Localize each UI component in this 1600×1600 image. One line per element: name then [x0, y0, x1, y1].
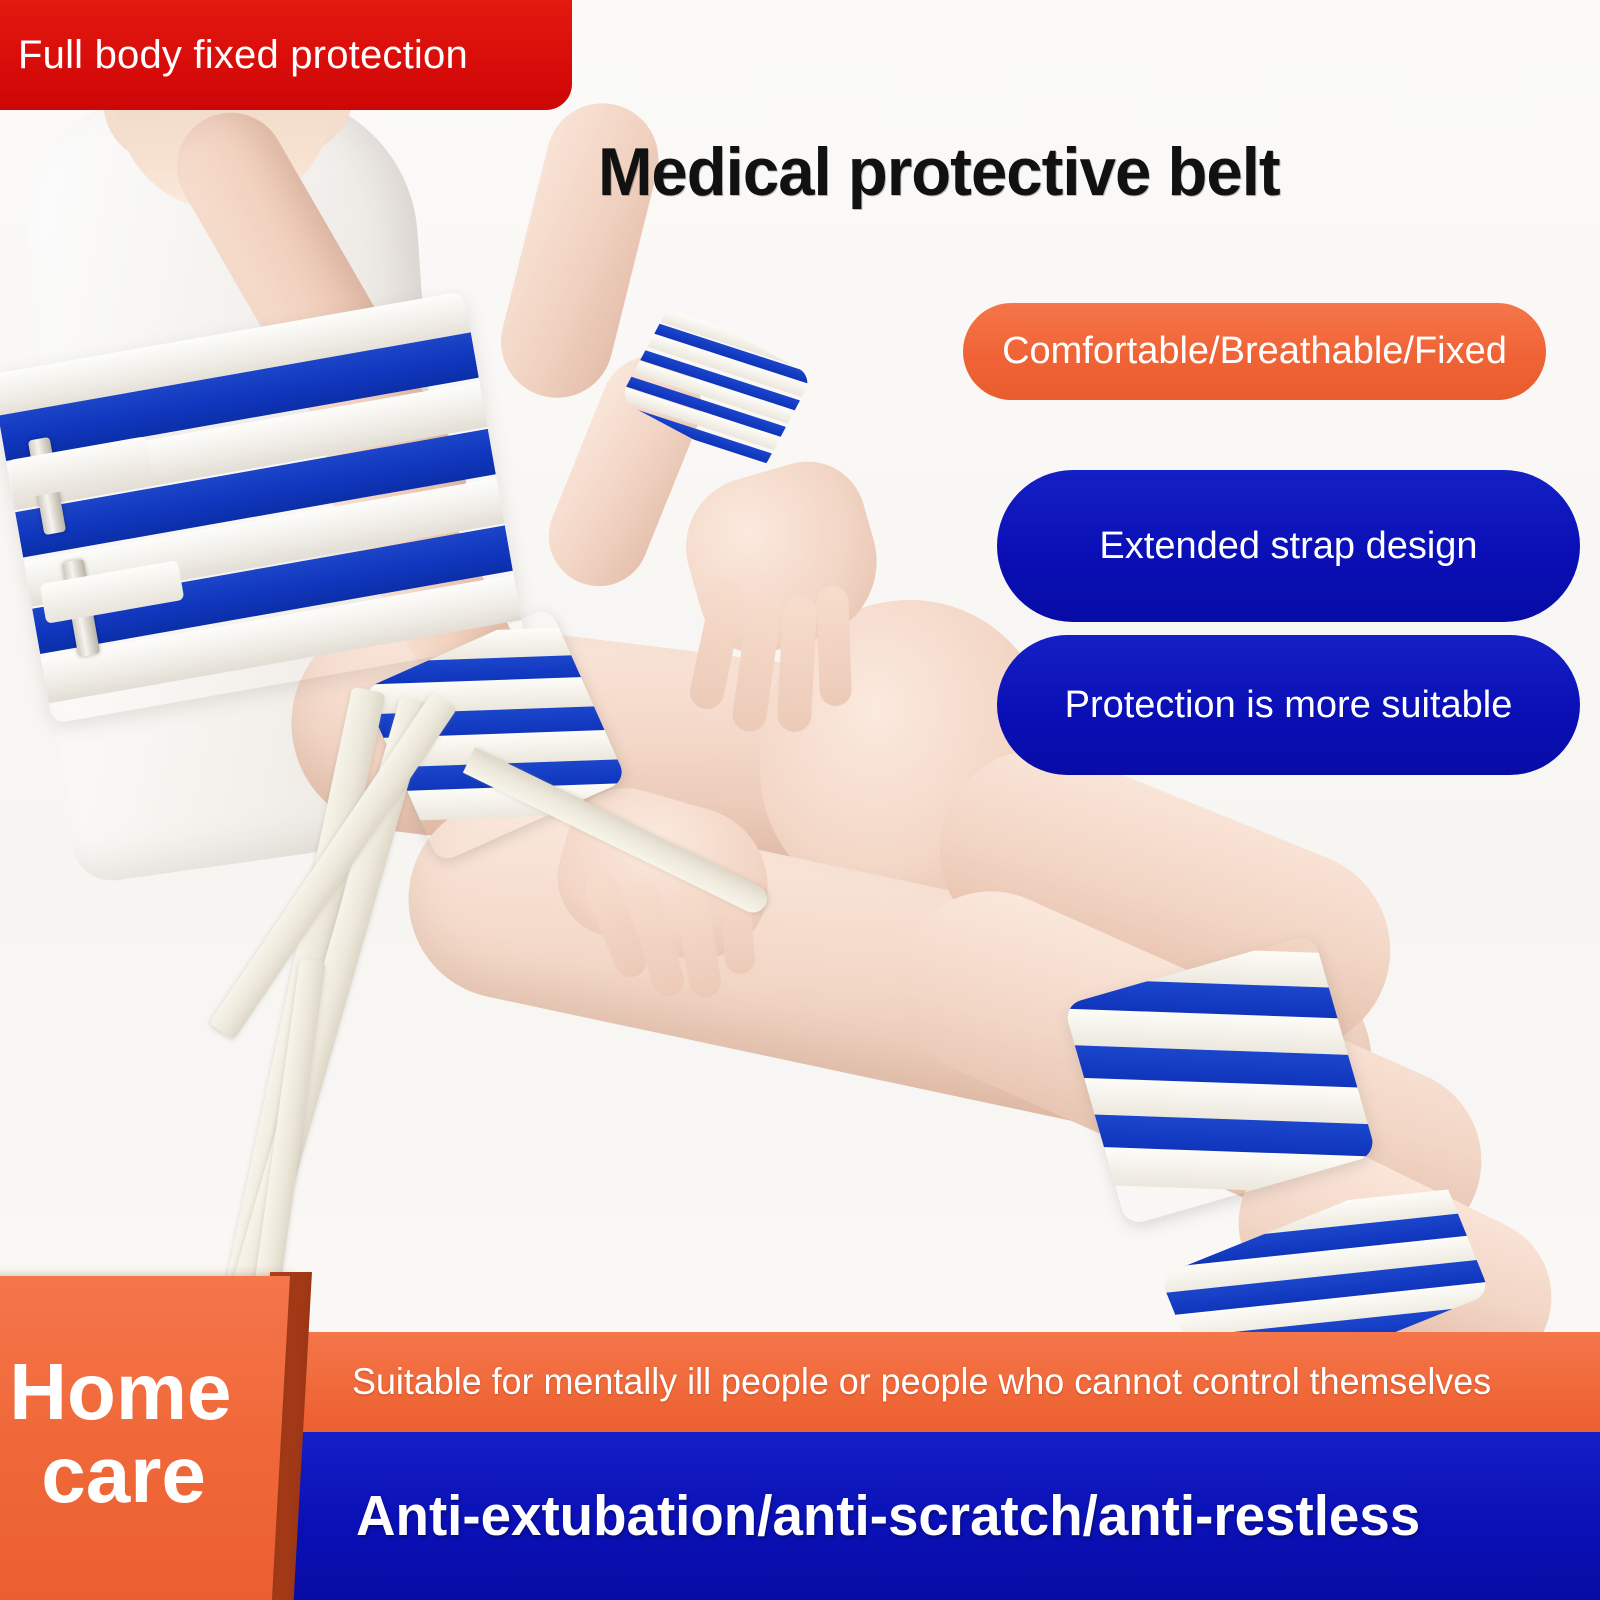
home-care-line-2: care: [0, 1433, 283, 1516]
feature-pill-label: Comfortable/Breathable/Fixed: [1002, 330, 1507, 373]
feature-pill-label: Protection is more suitable: [1065, 684, 1513, 727]
page-title: Medical protective belt: [598, 133, 1280, 211]
top-banner: Full body fixed protection: [0, 0, 572, 110]
footer-headline: Anti-extubation/anti-scratch/anti-restle…: [356, 1483, 1420, 1549]
top-banner-label: Full body fixed protection: [18, 33, 468, 78]
footer-subtitle: Suitable for mentally ill people or peop…: [352, 1361, 1491, 1403]
feature-pill-comfortable: Comfortable/Breathable/Fixed: [963, 303, 1546, 400]
feature-pill-protection: Protection is more suitable: [997, 635, 1580, 775]
finger: [816, 585, 852, 706]
feature-pill-label: Extended strap design: [1099, 525, 1477, 568]
feature-pill-extended-strap: Extended strap design: [997, 470, 1580, 622]
home-care-badge: Home care: [0, 1276, 290, 1600]
home-care-line-1: Home: [0, 1350, 283, 1433]
product-advertisement: Full body fixed protection Medical prote…: [0, 0, 1600, 1600]
finger: [776, 595, 817, 733]
